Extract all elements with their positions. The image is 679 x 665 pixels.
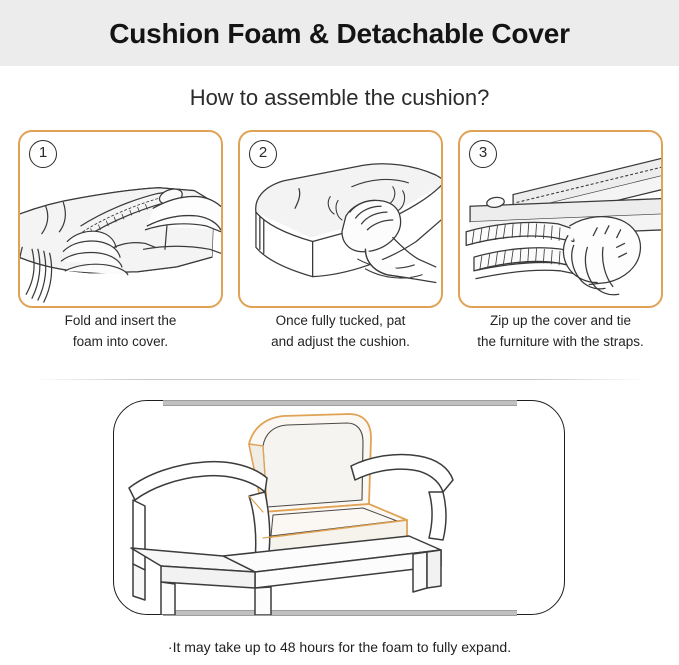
step-caption-1: Fold and insert the foam into cover. — [18, 310, 223, 366]
step-caption-1-line2: foam into cover. — [73, 334, 168, 349]
assembly-steps: 1 — [18, 130, 663, 308]
step-caption-2: Once fully tucked, pat and adjust the cu… — [238, 310, 443, 366]
step-caption-1-line1: Fold and insert the — [65, 313, 177, 328]
page-title: Cushion Foam & Detachable Cover — [0, 14, 679, 54]
step-number-badge-3: 3 — [469, 140, 497, 168]
step-card-3: 3 — [458, 130, 663, 308]
step-caption-3: Zip up the cover and tie the furniture w… — [458, 310, 663, 366]
subtitle: How to assemble the cushion? — [0, 82, 679, 114]
armchair-illustration — [113, 400, 565, 615]
step-number-badge-2: 2 — [249, 140, 277, 168]
step-caption-2-line1: Once fully tucked, pat — [276, 313, 406, 328]
step-caption-3-line2: the furniture with the straps. — [477, 334, 644, 349]
step-card-1: 1 — [18, 130, 223, 308]
footer-note: ·It may take up to 48 hours for the foam… — [0, 636, 679, 658]
step-card-2: 2 — [238, 130, 443, 308]
step-number-badge-1: 1 — [29, 140, 57, 168]
section-divider — [34, 379, 645, 380]
step-caption-3-line1: Zip up the cover and tie — [490, 313, 631, 328]
step-caption-2-line2: and adjust the cushion. — [271, 334, 410, 349]
step-captions: Fold and insert the foam into cover. Onc… — [18, 310, 663, 366]
